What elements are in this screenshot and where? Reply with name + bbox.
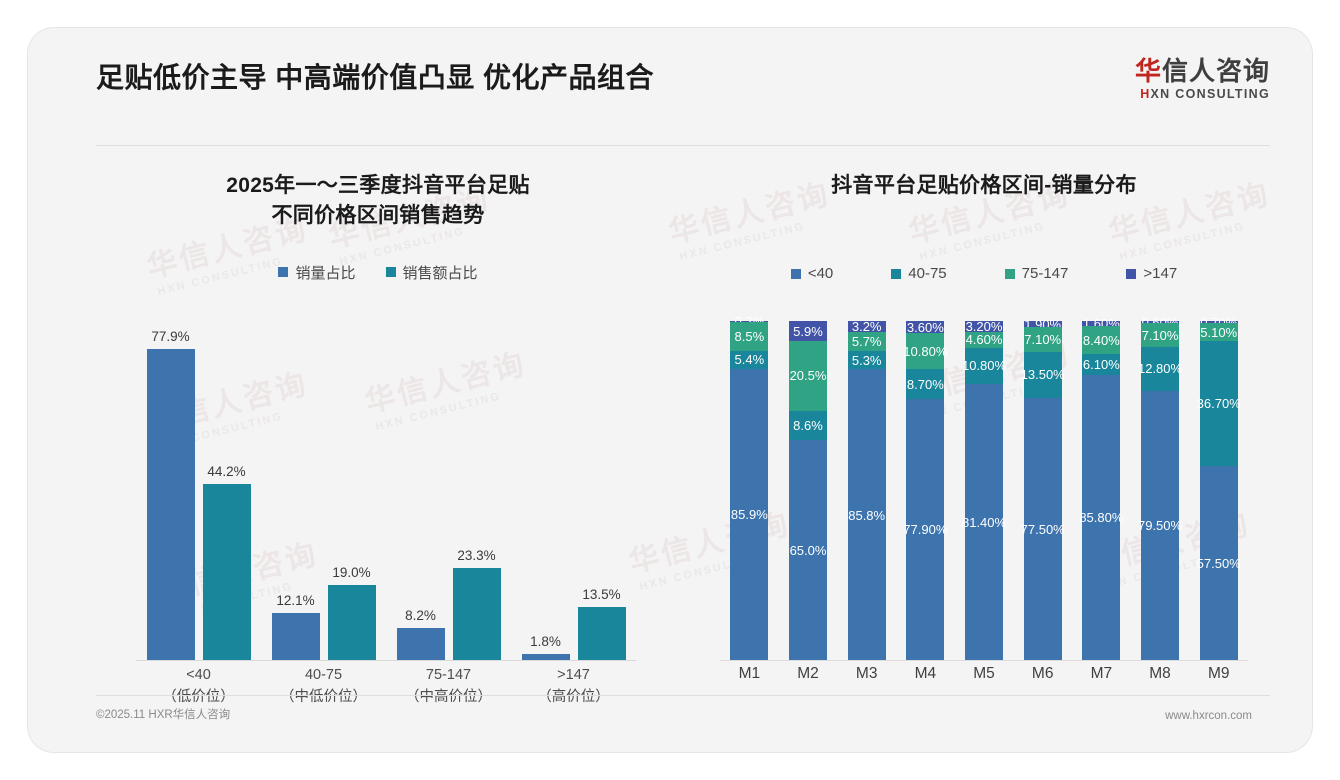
stacked-bar-segment[interactable]: 8.6% <box>789 411 827 440</box>
left-chart-panel: 2025年一～三季度抖音平台足贴 不同价格区间销售趋势 销量占比销售额占比 77… <box>68 153 688 718</box>
left-chart-legend-item[interactable]: 销售额占比 <box>386 262 478 283</box>
legend-label: 销售额占比 <box>403 262 478 283</box>
slide-canvas: 足贴低价主导 中高端价值凸显 优化产品组合 华信人咨询 HXN CONSULTI… <box>28 28 1312 752</box>
x-axis-category: M9 <box>1189 665 1248 683</box>
right-chart-legend-item[interactable]: 40-75 <box>891 265 946 282</box>
bar-value-label: 77.9% <box>133 329 209 344</box>
stacked-bar-segment[interactable]: 8.5% <box>730 322 768 351</box>
segment-value-label: 6.10% <box>1083 358 1120 371</box>
x-axis-category: M2 <box>779 665 838 683</box>
legend-swatch-icon <box>1126 269 1136 279</box>
stacked-bar-segment[interactable]: 85.9% <box>730 369 768 661</box>
stacked-bar-segment[interactable]: 13.50% <box>1024 352 1062 398</box>
legend-label: 75-147 <box>1022 265 1069 282</box>
x-axis-category-name: >147 <box>511 665 636 687</box>
x-axis-category: M8 <box>1131 665 1190 683</box>
segment-value-label: 57.50% <box>1197 557 1241 570</box>
segment-value-label: 65.0% <box>790 544 827 557</box>
bar-slot: 1.8% <box>522 321 570 661</box>
footer-website: www.hxrcon.com <box>1165 710 1252 722</box>
stacked-bar[interactable]: 0.70%5.10%36.70%57.50% <box>1200 321 1238 661</box>
segment-value-label: 10.80% <box>903 345 947 358</box>
stacked-bar-segment[interactable]: 85.8% <box>848 369 886 661</box>
x-axis-category-name: 75-147 <box>386 665 511 687</box>
stacked-bar-segment[interactable]: 12.80% <box>1141 347 1179 391</box>
stacked-bar[interactable]: 0.60%7.10%12.80%79.50% <box>1141 321 1179 661</box>
stacked-bar-column: 1.90%7.10%13.50%77.50% <box>1013 321 1072 661</box>
legend-label: 40-75 <box>908 265 946 282</box>
x-axis-category: >147（高价位） <box>511 665 636 709</box>
bar-group: 1.8%13.5% <box>511 321 636 661</box>
stacked-bar-segment[interactable]: 5.7% <box>848 332 886 351</box>
left-chart-x-axis-labels: <40（低价位）40-75（中低价位）75-147（中高价位）>147（高价位） <box>136 665 636 709</box>
right-chart-legend: <4040-7575-147>147 <box>696 265 1272 282</box>
bar-slot: 44.2% <box>203 321 251 661</box>
bar[interactable] <box>328 585 376 661</box>
segment-value-label: 5.10% <box>1200 326 1237 339</box>
segment-value-label: 5.3% <box>852 354 882 367</box>
stacked-bar-segment[interactable]: 79.50% <box>1141 391 1179 661</box>
segment-value-label: 5.9% <box>793 325 823 338</box>
x-axis-category: 40-75（中低价位） <box>261 665 386 709</box>
right-chart-legend-item[interactable]: 75-147 <box>1005 265 1069 282</box>
stacked-bar-segment[interactable]: 20.5% <box>789 341 827 411</box>
stacked-bar-column: 3.60%10.80%8.70%77.90% <box>896 321 955 661</box>
stacked-bar-segment[interactable]: 81.40% <box>965 384 1003 661</box>
bar-value-label: 12.1% <box>258 593 334 608</box>
right-chart-legend-item[interactable]: <40 <box>791 265 833 282</box>
segment-value-label: 10.80% <box>962 359 1006 372</box>
stacked-bar-segment[interactable]: 10.80% <box>965 348 1003 385</box>
stacked-bar[interactable]: 1.90%7.10%13.50%77.50% <box>1024 321 1062 661</box>
segment-value-label: 8.6% <box>793 419 823 432</box>
logo-cn-red: 华 <box>1135 56 1162 86</box>
bar-group: 77.9%44.2% <box>136 321 261 661</box>
x-axis-category-sublabel: （中低价位） <box>261 687 386 709</box>
left-chart-title: 2025年一～三季度抖音平台足贴 不同价格区间销售趋势 <box>68 171 688 232</box>
bar-value-label: 8.2% <box>383 608 459 623</box>
segment-value-label: 36.70% <box>1197 397 1241 410</box>
legend-swatch-icon <box>386 267 396 277</box>
right-chart-x-axis-labels: M1M2M3M4M5M6M7M8M9 <box>720 665 1248 683</box>
segment-value-label: 85.9% <box>731 508 768 521</box>
left-chart-legend: 销量占比销售额占比 <box>68 262 688 283</box>
stacked-bar-segment[interactable]: 3.60% <box>906 321 944 333</box>
segment-value-label: 79.50% <box>1138 519 1182 532</box>
stacked-bar-segment[interactable]: 8.40% <box>1082 326 1120 354</box>
x-axis-category-sublabel: （高价位） <box>511 687 636 709</box>
stacked-bar-column: 1.60%8.40%6.10%85.80% <box>1072 321 1131 661</box>
bar[interactable] <box>397 628 445 661</box>
segment-value-label: 5.4% <box>735 353 765 366</box>
segment-value-label: 20.5% <box>790 369 827 382</box>
legend-swatch-icon <box>791 269 801 279</box>
segment-value-label: 5.7% <box>852 335 882 348</box>
stacked-bar-column: 3.20%4.60%10.80%81.40% <box>955 321 1014 661</box>
bar[interactable] <box>147 349 195 661</box>
x-axis-category: M5 <box>955 665 1014 683</box>
bar-value-label: 44.2% <box>189 464 265 479</box>
bar-slot: 13.5% <box>578 321 626 661</box>
right-chart-title: 抖音平台足贴价格区间-销量分布 <box>696 171 1272 201</box>
right-chart-legend-item[interactable]: >147 <box>1126 265 1177 282</box>
x-axis-category-name: 40-75 <box>261 665 386 687</box>
segment-value-label: 8.40% <box>1083 334 1120 347</box>
segment-value-label: 12.80% <box>1138 362 1182 375</box>
x-axis-category: M4 <box>896 665 955 683</box>
bar-slot: 12.1% <box>272 321 320 661</box>
header-divider <box>96 145 1270 146</box>
bar-slot: 23.3% <box>453 321 501 661</box>
grouped-bar-chart: 77.9%44.2%12.1%19.0%8.2%23.3%1.8%13.5% <box>136 321 636 661</box>
stacked-bar-column: 0.2%8.5%5.4%85.9% <box>720 321 779 661</box>
stacked-bar-segment[interactable]: 8.70% <box>906 369 944 398</box>
page-title: 足贴低价主导 中高端价值凸显 优化产品组合 <box>96 56 654 96</box>
segment-value-label: 85.80% <box>1079 511 1123 524</box>
stacked-bar-segment[interactable]: 4.60% <box>965 332 1003 348</box>
stacked-bar-column: 3.2%5.7%5.3%85.8% <box>837 321 896 661</box>
stacked-bar-segment[interactable]: 36.70% <box>1200 341 1238 466</box>
segment-value-label: 77.90% <box>903 523 947 536</box>
bar-slot: 8.2% <box>397 321 445 661</box>
legend-label: <40 <box>808 265 833 282</box>
stacked-bar-segment[interactable]: 5.10% <box>1200 323 1238 340</box>
stacked-bar-segment[interactable]: 7.10% <box>1141 323 1179 347</box>
logo-en-red: H <box>1140 87 1150 101</box>
left-chart-legend-item[interactable]: 销量占比 <box>278 262 355 283</box>
x-axis-category: <40（低价位） <box>136 665 261 709</box>
stacked-bar-segment[interactable]: 10.80% <box>906 333 944 369</box>
stacked-bar[interactable]: 1.60%8.40%6.10%85.80% <box>1082 321 1120 661</box>
logo-english-name: HXN CONSULTING <box>1135 87 1270 101</box>
x-axis-category-sublabel: （中高价位） <box>386 687 511 709</box>
stacked-bar-segment[interactable]: 5.3% <box>848 351 886 369</box>
stacked-bar-column: 5.9%20.5%8.6%65.0% <box>779 321 838 661</box>
stacked-bar-column: 0.60%7.10%12.80%79.50% <box>1131 321 1190 661</box>
legend-swatch-icon <box>278 267 288 277</box>
logo-en-dark: XN CONSULTING <box>1151 87 1270 101</box>
stacked-bar-segment[interactable]: 3.20% <box>965 321 1003 332</box>
legend-swatch-icon <box>1005 269 1015 279</box>
stacked-bar-segment[interactable]: 65.0% <box>789 440 827 661</box>
bar[interactable] <box>578 607 626 661</box>
footer-copyright: ©2025.11 HXR华信人咨询 <box>96 706 230 722</box>
stacked-bar-segment[interactable]: 77.90% <box>906 399 944 661</box>
segment-value-label: 13.50% <box>1021 368 1065 381</box>
footer-divider <box>96 695 1270 696</box>
stacked-bar-segment[interactable]: 3.2% <box>848 321 886 332</box>
slide-header: 足贴低价主导 中高端价值凸显 优化产品组合 华信人咨询 HXN CONSULTI… <box>28 28 1312 121</box>
segment-value-label: 85.8% <box>848 509 885 522</box>
bar-value-label: 23.3% <box>439 548 515 563</box>
bar-value-label: 13.5% <box>564 587 640 602</box>
stacked-bar-column: 0.70%5.10%36.70%57.50% <box>1189 321 1248 661</box>
x-axis-category: M3 <box>837 665 896 683</box>
stacked-bar-segment[interactable]: 6.10% <box>1082 354 1120 374</box>
segment-value-label: 3.60% <box>907 321 944 334</box>
x-axis-category: M1 <box>720 665 779 683</box>
segment-value-label: 77.50% <box>1021 523 1065 536</box>
x-axis-category-name: <40 <box>136 665 261 687</box>
stacked-bar-segment[interactable]: 5.9% <box>789 321 827 341</box>
segment-value-label: 81.40% <box>962 516 1006 529</box>
bar[interactable] <box>453 568 501 661</box>
bar-group: 12.1%19.0% <box>261 321 386 661</box>
stacked-bar-segment[interactable]: 77.50% <box>1024 398 1062 662</box>
stacked-bar-chart: 0.2%8.5%5.4%85.9%5.9%20.5%8.6%65.0%3.2%5… <box>720 321 1248 661</box>
stacked-bar[interactable]: 0.2%8.5%5.4%85.9% <box>730 321 768 661</box>
bar[interactable] <box>272 613 320 661</box>
left-chart-title-line-1: 2025年一～三季度抖音平台足贴 <box>138 171 618 201</box>
stacked-bar-segment[interactable]: 5.4% <box>730 351 768 369</box>
segment-value-label: 8.5% <box>735 330 765 343</box>
stacked-bar-segment[interactable]: 85.80% <box>1082 375 1120 661</box>
x-axis-line <box>136 660 636 661</box>
segment-value-label: 8.70% <box>907 378 944 391</box>
segment-value-label: 7.10% <box>1142 329 1179 342</box>
segment-value-label: 7.10% <box>1024 333 1061 346</box>
bar-value-label: 1.8% <box>508 634 584 649</box>
legend-label: >147 <box>1143 265 1177 282</box>
x-axis-category: 75-147（中高价位） <box>386 665 511 709</box>
stacked-bar[interactable]: 3.20%4.60%10.80%81.40% <box>965 321 1003 661</box>
logo-chinese-name: 华信人咨询 <box>1135 58 1270 85</box>
stacked-bar-segment[interactable]: 7.10% <box>1024 327 1062 351</box>
bar[interactable] <box>203 484 251 661</box>
right-chart-panel: 抖音平台足贴价格区间-销量分布 <4040-7575-147>147 0.2%8… <box>696 153 1272 718</box>
stacked-bar[interactable]: 3.60%10.80%8.70%77.90% <box>906 321 944 661</box>
company-logo: 华信人咨询 HXN CONSULTING <box>1135 58 1270 101</box>
stacked-bar-segment[interactable]: 57.50% <box>1200 466 1238 662</box>
logo-cn-dark: 信人咨询 <box>1162 56 1270 86</box>
x-axis-category: M7 <box>1072 665 1131 683</box>
bar-slot: 77.9% <box>147 321 195 661</box>
stacked-bar[interactable]: 5.9%20.5%8.6%65.0% <box>789 321 827 661</box>
bar-slot: 19.0% <box>328 321 376 661</box>
legend-swatch-icon <box>891 269 901 279</box>
x-axis-category: M6 <box>1013 665 1072 683</box>
segment-value-label: 4.60% <box>966 333 1003 346</box>
bar-value-label: 19.0% <box>314 565 390 580</box>
left-chart-title-line-2: 不同价格区间销售趋势 <box>138 201 618 231</box>
x-axis-line <box>720 660 1248 661</box>
bar-group: 8.2%23.3% <box>386 321 511 661</box>
stacked-bar[interactable]: 3.2%5.7%5.3%85.8% <box>848 321 886 661</box>
legend-label: 销量占比 <box>295 262 355 283</box>
